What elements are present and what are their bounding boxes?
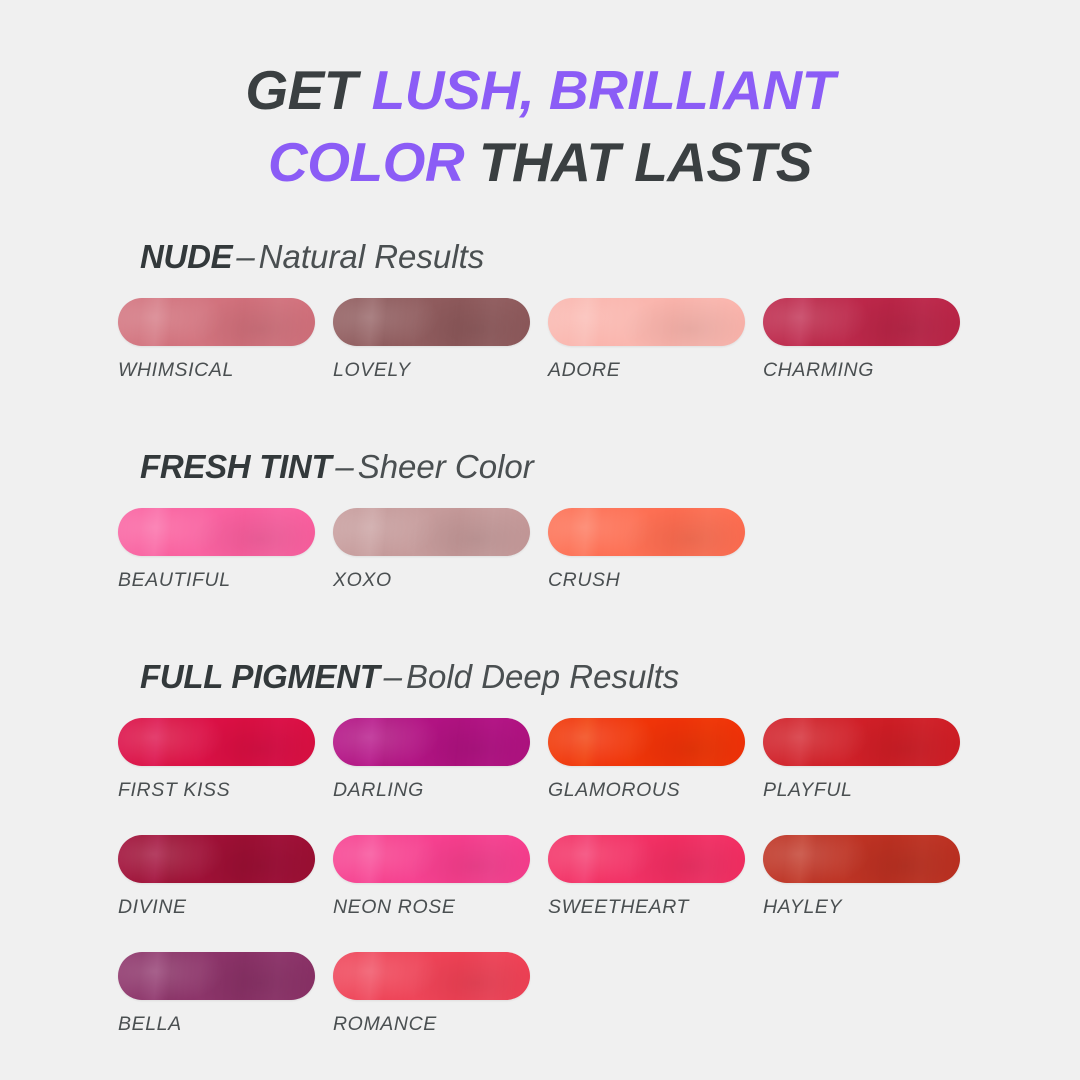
swatch-cell-neon-rose[interactable]: NEON ROSE [333,835,548,919]
swatch-label-playful: PLAYFUL [763,779,978,802]
page-title: GET LUSH, BRILLIANT COLOR THAT LASTS [0,0,1080,198]
swatch-cell-first-kiss[interactable]: FIRST KISS [118,718,333,802]
section-fresh-tint: FRESH TINT–Sheer Color BEAUTIFUL XOXO CR… [118,450,1020,592]
swatch-color-divine[interactable] [118,835,315,883]
swatch-color-neon-rose[interactable] [333,835,530,883]
swatch-color-beautiful[interactable] [118,508,315,556]
swatch-row: FIRST KISS DARLING GLAMOROUS PLAYFUL [118,718,1020,802]
shade-sections: NUDE–Natural Results WHIMSICAL LOVELY AD… [0,240,1080,1036]
swatch-row: DIVINE NEON ROSE SWEETHEART HAYLEY [118,835,1020,919]
section-description-nude: Natural Results [259,238,485,275]
section-description-full-pigment: Bold Deep Results [406,658,679,695]
swatch-color-lovely[interactable] [333,298,530,346]
swatch-label-darling: DARLING [333,779,548,802]
swatch-cell-charming[interactable]: CHARMING [763,298,978,382]
swatch-label-crush: CRUSH [548,569,763,592]
swatch-color-bella[interactable] [118,952,315,1000]
swatch-color-darling[interactable] [333,718,530,766]
swatch-row: BELLA ROMANCE [118,952,1020,1036]
section-description-fresh-tint: Sheer Color [358,448,534,485]
section-nude: NUDE–Natural Results WHIMSICAL LOVELY AD… [118,240,1020,382]
swatch-cell-glamorous[interactable]: GLAMOROUS [548,718,763,802]
section-category-full-pigment: FULL PIGMENT [140,658,380,695]
swatch-cell-adore[interactable]: ADORE [548,298,763,382]
swatch-cell-bella[interactable]: BELLA [118,952,333,1036]
swatch-label-beautiful: BEAUTIFUL [118,569,333,592]
swatch-cell-xoxo[interactable]: XOXO [333,508,548,592]
swatch-row: BEAUTIFUL XOXO CRUSH [118,508,1020,592]
swatch-cell-divine[interactable]: DIVINE [118,835,333,919]
swatch-cell-whimsical[interactable]: WHIMSICAL [118,298,333,382]
swatch-cell-romance[interactable]: ROMANCE [333,952,548,1036]
swatch-color-hayley[interactable] [763,835,960,883]
section-heading-full-pigment: FULL PIGMENT–Bold Deep Results [140,660,1020,693]
headline-line-2: COLOR THAT LASTS [0,127,1080,199]
headline-line-1: GET LUSH, BRILLIANT [0,55,1080,127]
section-heading-fresh-tint: FRESH TINT–Sheer Color [140,450,1020,483]
swatch-label-lovely: LOVELY [333,359,548,382]
swatch-label-sweetheart: SWEETHEART [548,896,763,919]
swatch-color-charming[interactable] [763,298,960,346]
swatch-label-romance: ROMANCE [333,1013,548,1036]
swatch-color-first-kiss[interactable] [118,718,315,766]
swatch-label-first-kiss: FIRST KISS [118,779,333,802]
swatch-color-xoxo[interactable] [333,508,530,556]
swatch-label-whimsical: WHIMSICAL [118,359,333,382]
headline-text-lush-brilliant: LUSH, BRILLIANT [372,59,835,121]
swatch-label-adore: ADORE [548,359,763,382]
swatch-color-adore[interactable] [548,298,745,346]
swatch-label-charming: CHARMING [763,359,978,382]
swatch-color-glamorous[interactable] [548,718,745,766]
swatch-label-hayley: HAYLEY [763,896,978,919]
section-category-fresh-tint: FRESH TINT [140,448,331,485]
headline-text-color: COLOR [268,131,464,193]
headline-text-that-lasts: THAT LASTS [464,131,812,193]
swatch-color-whimsical[interactable] [118,298,315,346]
swatch-label-divine: DIVINE [118,896,333,919]
swatch-label-neon-rose: NEON ROSE [333,896,548,919]
section-category-nude: NUDE [140,238,232,275]
swatch-label-glamorous: GLAMOROUS [548,779,763,802]
swatch-cell-sweetheart[interactable]: SWEETHEART [548,835,763,919]
swatch-row: WHIMSICAL LOVELY ADORE CHARMING [118,298,1020,382]
swatch-grid-fresh-tint: BEAUTIFUL XOXO CRUSH [118,508,1020,592]
headline-text-get: GET [245,59,371,121]
swatch-color-playful[interactable] [763,718,960,766]
swatch-color-romance[interactable] [333,952,530,1000]
swatch-cell-crush[interactable]: CRUSH [548,508,763,592]
swatch-label-bella: BELLA [118,1013,333,1036]
section-full-pigment: FULL PIGMENT–Bold Deep Results FIRST KIS… [118,660,1020,1036]
section-dash-full-pigment: – [380,658,406,695]
swatch-cell-beautiful[interactable]: BEAUTIFUL [118,508,333,592]
swatch-grid-nude: WHIMSICAL LOVELY ADORE CHARMING [118,298,1020,382]
swatch-color-sweetheart[interactable] [548,835,745,883]
swatch-grid-full-pigment: FIRST KISS DARLING GLAMOROUS PLAYFUL [118,718,1020,1036]
section-dash-nude: – [232,238,258,275]
swatch-cell-lovely[interactable]: LOVELY [333,298,548,382]
swatch-label-xoxo: XOXO [333,569,548,592]
swatch-cell-darling[interactable]: DARLING [333,718,548,802]
swatch-cell-playful[interactable]: PLAYFUL [763,718,978,802]
swatch-color-crush[interactable] [548,508,745,556]
section-heading-nude: NUDE–Natural Results [140,240,1020,273]
section-dash-fresh-tint: – [331,448,357,485]
swatch-cell-hayley[interactable]: HAYLEY [763,835,978,919]
lipstick-shade-chart: GET LUSH, BRILLIANT COLOR THAT LASTS NUD… [0,0,1080,1080]
